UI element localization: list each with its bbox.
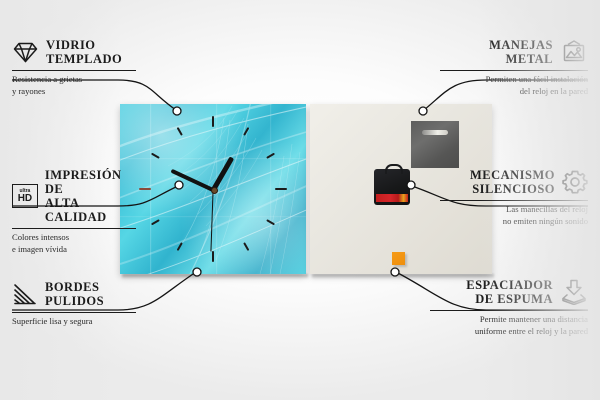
clock-tick xyxy=(275,188,287,190)
gear-icon xyxy=(562,169,588,195)
picture-hanger-icon xyxy=(560,40,588,65)
callout-header: ESPACIADOR DE ESPUMA xyxy=(430,278,588,306)
diamond-icon xyxy=(12,41,39,64)
clock-mechanism xyxy=(374,169,410,205)
callout-header: ultra HD IMPRESIÓN DE ALTA CALIDAD xyxy=(12,168,136,224)
callout-title: BORDES PULIDOS xyxy=(45,280,104,308)
callout-title: IMPRESIÓN DE ALTA CALIDAD xyxy=(45,168,136,224)
callout-rule xyxy=(12,70,136,71)
callout-impresion-alta-calidad: ultra HD IMPRESIÓN DE ALTA CALIDAD Color… xyxy=(12,168,136,255)
callout-title: VIDRIO TEMPLADO xyxy=(46,38,122,66)
callout-header: MANEJAS METAL xyxy=(440,38,588,66)
callout-header: VIDRIO TEMPLADO xyxy=(12,38,136,66)
callout-title: ESPACIADOR DE ESPUMA xyxy=(466,278,553,306)
callout-vidrio-templado: VIDRIO TEMPLADO Resistencia a grietas y … xyxy=(12,38,136,97)
clock-face-shadow xyxy=(122,274,308,279)
callout-description: Las manecillas del reloj no emiten ningú… xyxy=(440,204,588,227)
ultra-hd-badge-icon: ultra HD xyxy=(12,184,38,208)
callout-rule xyxy=(430,310,588,311)
callout-rule xyxy=(12,312,136,313)
infographic-canvas: VIDRIO TEMPLADO Resistencia a grietas y … xyxy=(0,0,600,400)
clock-face-panel xyxy=(120,104,306,274)
clock-tick xyxy=(212,251,214,262)
clock-tick xyxy=(212,116,214,127)
product-image xyxy=(120,104,495,276)
callout-rule xyxy=(12,228,136,229)
callout-description: Resistencia a grietas y rayones xyxy=(12,74,136,97)
callout-espaciador-espuma: ESPACIADOR DE ESPUMA Permite mantener un… xyxy=(430,278,588,337)
foam-spacer-pad xyxy=(392,252,405,265)
callout-description: Permite mantener una distancia uniforme … xyxy=(430,314,588,337)
callout-description: Permiten una fácil instalación del reloj… xyxy=(440,74,588,97)
clock-tick xyxy=(139,188,151,190)
callout-description: Colores intensos e imagen vívida xyxy=(12,232,136,255)
mechanism-hanging-loop xyxy=(385,164,403,174)
mechanism-label-strip xyxy=(376,194,408,202)
hanger-slot xyxy=(422,130,448,135)
polished-edge-icon xyxy=(12,282,38,306)
clock-hub xyxy=(211,187,218,194)
callout-manejas-metal: MANEJAS METAL Permiten una fácil instala… xyxy=(440,38,588,97)
metal-hanger-plate xyxy=(411,121,459,168)
callout-header: BORDES PULIDOS xyxy=(12,280,136,308)
callout-title: MANEJAS METAL xyxy=(489,38,553,66)
foam-spacer-icon xyxy=(560,279,588,305)
callout-description: Superficie lisa y segura xyxy=(12,316,136,327)
callout-bordes-pulidos: BORDES PULIDOS Superficie lisa y segura xyxy=(12,280,136,328)
callout-mecanismo-silencioso: MECANISMO SILENCIOSO Las manecillas del … xyxy=(440,168,588,227)
callout-title: MECANISMO SILENCIOSO xyxy=(470,168,555,196)
callout-header: MECANISMO SILENCIOSO xyxy=(440,168,588,196)
callout-rule xyxy=(440,200,588,201)
callout-rule xyxy=(440,70,588,71)
